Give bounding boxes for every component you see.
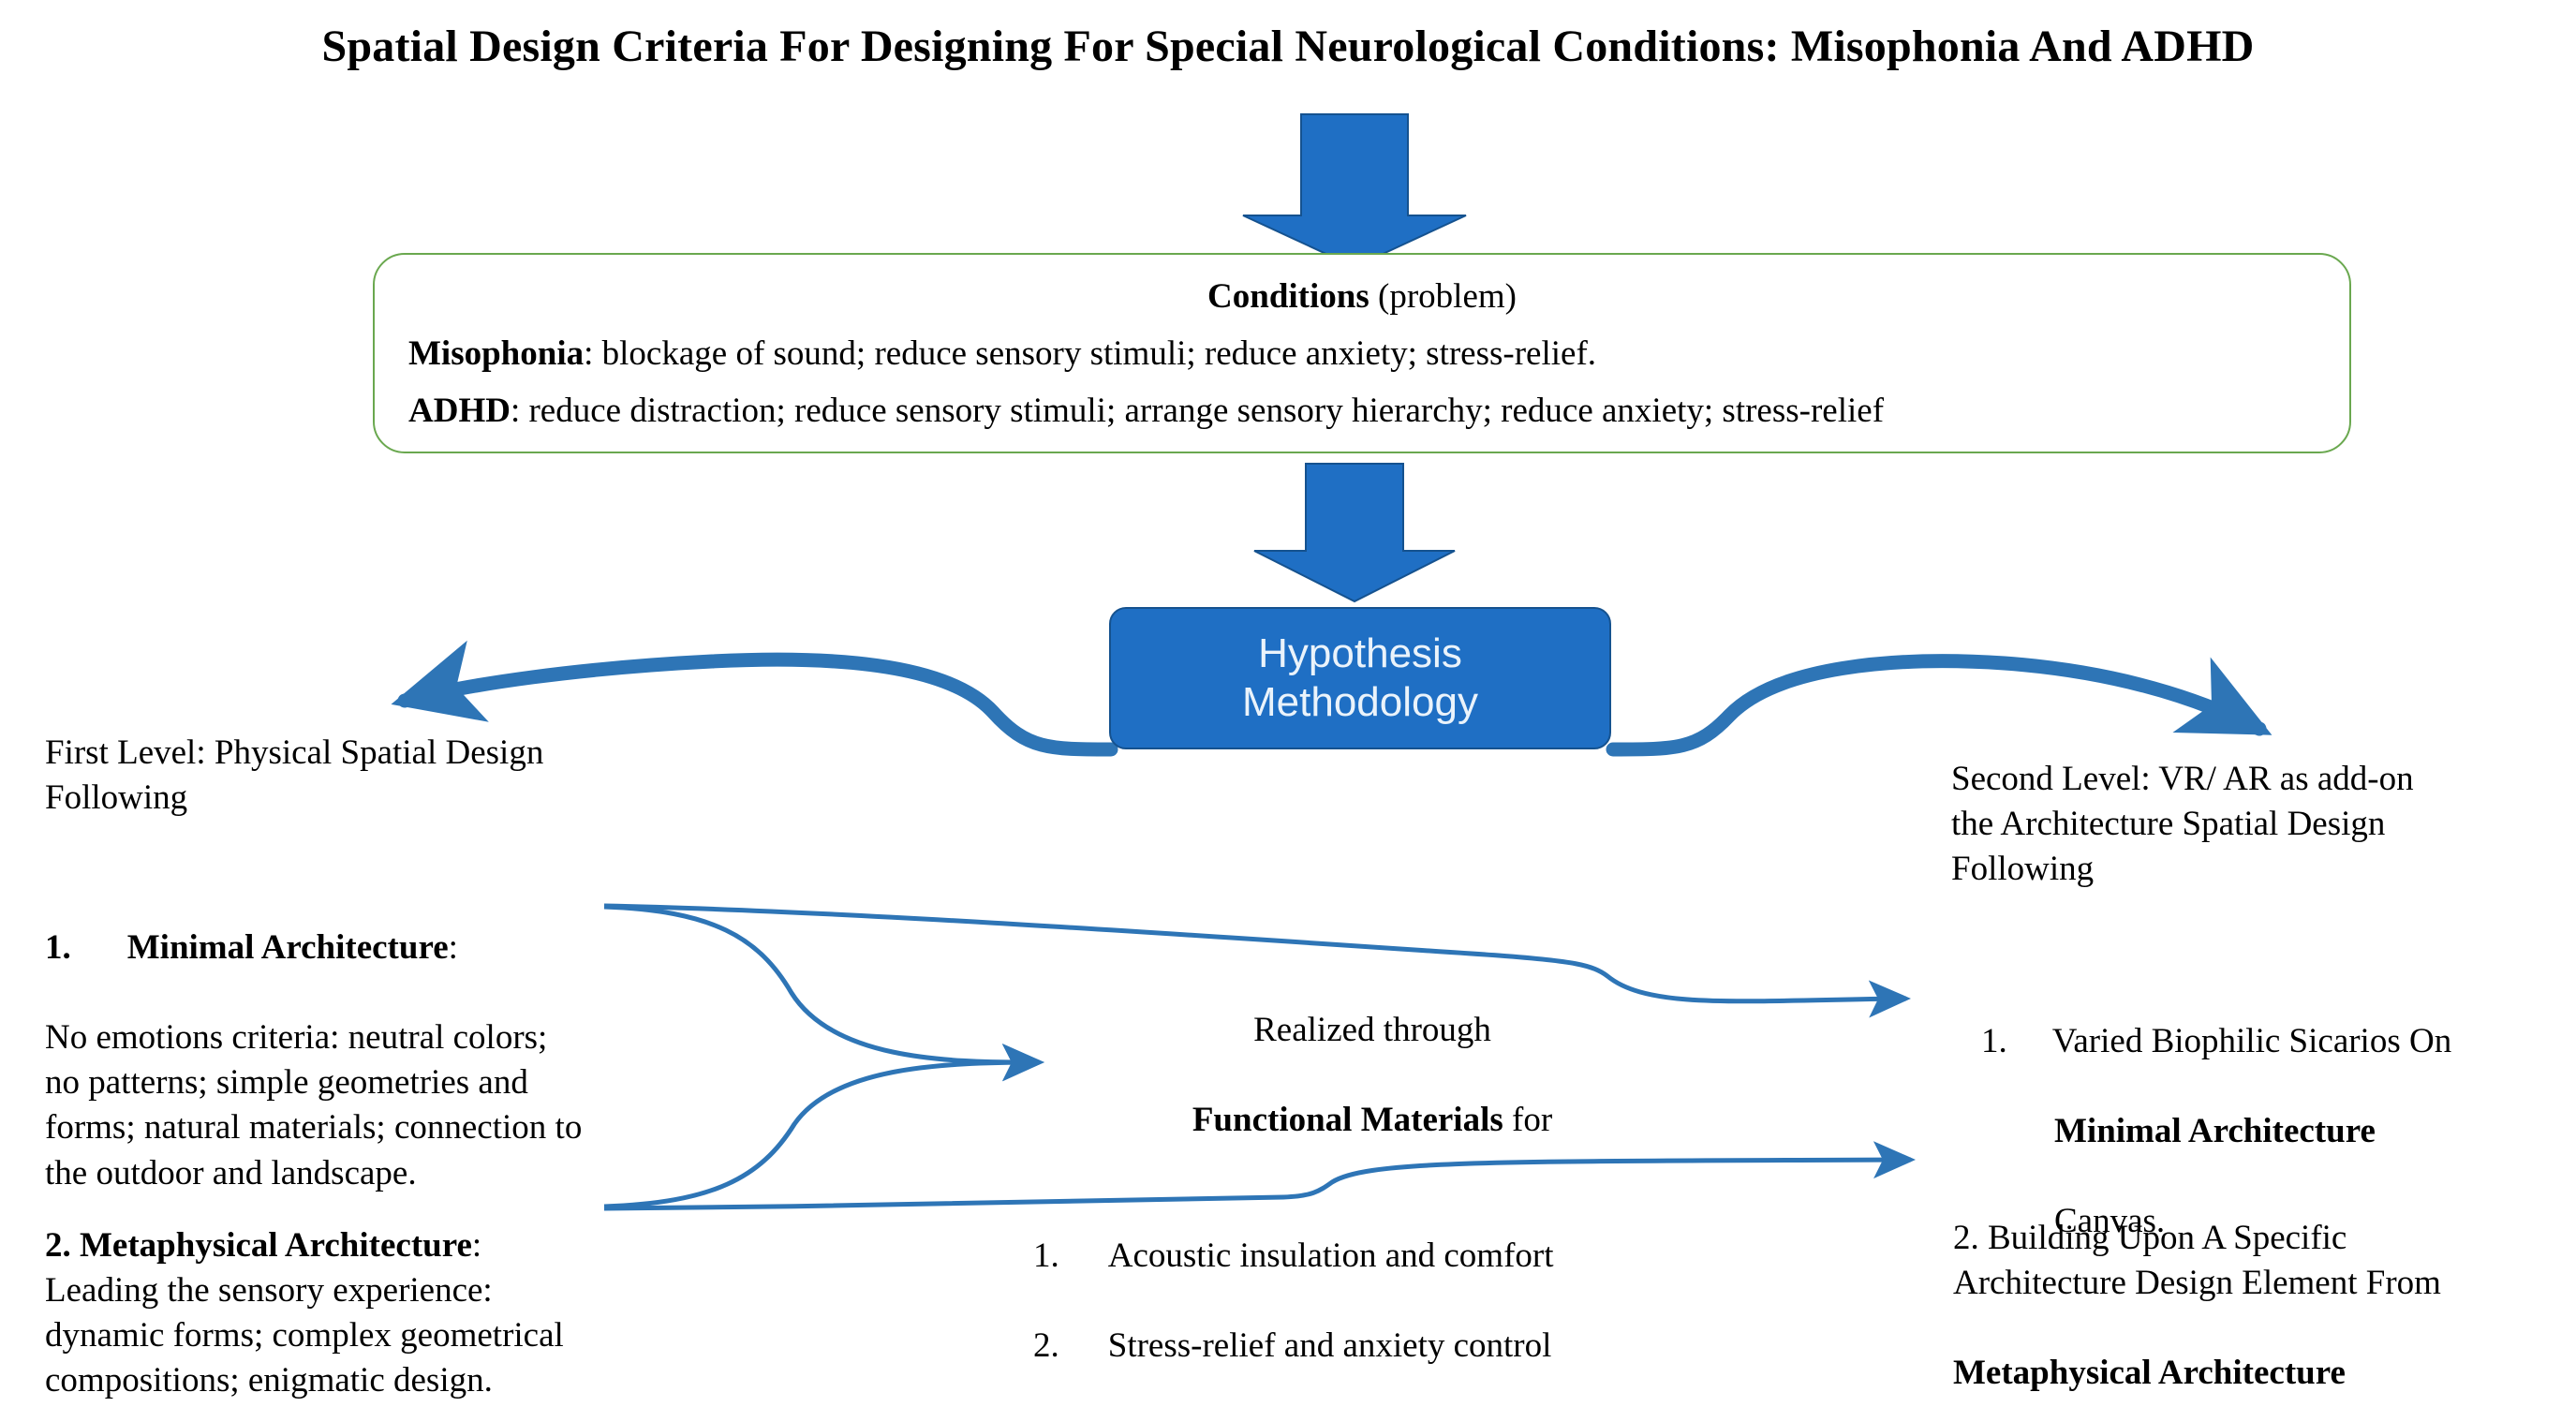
functional-materials-rest: for (1503, 1101, 1552, 1139)
list-item-text: Acoustic insulation and comfort (1108, 1237, 1554, 1275)
functional-materials-block: Realized through Functional Materials fo… (1016, 963, 1728, 1407)
list-item: 1.Acoustic insulation and comfort (1033, 1234, 1728, 1279)
metaphysical-architecture-colon: : (472, 1226, 481, 1265)
right-item-2-bold: Metaphysical Architecture (1953, 1354, 2346, 1392)
conditions-adhd-label: ADHD (408, 392, 511, 430)
conditions-misophonia-text: : blockage of sound; reduce sensory stim… (584, 334, 1596, 373)
hypothesis-methodology-box[interactable]: Hypothesis Methodology (1109, 607, 1611, 749)
conditions-heading-bold: Conditions (1207, 277, 1369, 316)
functional-materials-bold: Functional Materials (1192, 1101, 1503, 1139)
connector-metaphysical-to-materials (604, 1062, 1040, 1207)
list-item: 2.Stress-relief and anxiety control (1033, 1324, 1728, 1369)
realized-through-label: Realized through (1016, 1008, 1728, 1053)
list-item-text: Stress-relief and anxiety control (1108, 1326, 1552, 1365)
functional-materials-heading: Functional Materials for (1016, 1098, 1728, 1143)
connector-minimal-to-materials (604, 907, 1040, 1062)
down-arrow-icon-top (1243, 114, 1466, 267)
minimal-architecture-colon: : (449, 928, 458, 967)
right-item-1-bold: Minimal Architecture (2054, 1112, 2376, 1150)
functional-materials-list: 1.Acoustic insulation and comfort 2.Stre… (1033, 1188, 1728, 1407)
right-item-2-line1: Building Upon A Specific (1979, 1219, 2347, 1257)
metaphysical-architecture-title: Metaphysical Architecture (80, 1226, 472, 1265)
minimal-architecture-title: Minimal Architecture (127, 928, 449, 967)
minimal-architecture-heading: 1.Minimal Architecture: (45, 926, 644, 970)
hypothesis-methodology-label: Hypothesis Methodology (1242, 629, 1478, 727)
right-item-2-heading: 2. Building Upon A Specific (1953, 1219, 2347, 1257)
second-level-label: Second Level: VR/ AR as add-on the Archi… (1951, 757, 2569, 892)
conditions-heading: Conditions (problem) (375, 276, 2349, 318)
conditions-box: Conditions (problem) Misophonia: blockag… (373, 253, 2351, 453)
conditions-misophonia-label: Misophonia (408, 334, 584, 373)
right-item-2-block: 2. Building Upon A Specific Architecture… (1953, 1171, 2576, 1407)
metaphysical-architecture-heading: 2. Metaphysical Architecture: (45, 1226, 481, 1265)
down-arrow-icon-middle (1254, 464, 1455, 601)
conditions-misophonia-line: Misophonia: blockage of sound; reduce se… (408, 333, 2349, 375)
minimal-architecture-body: No emotions criteria: neutral colors; no… (45, 1018, 582, 1192)
list-item-number: 2. (1033, 1326, 1059, 1365)
right-item-1-heading: 1.Varied Biophilic Sicarios On (1981, 1019, 2576, 1064)
metaphysical-architecture-block: 2. Metaphysical Architecture: Leading th… (45, 1178, 663, 1403)
minimal-architecture-block: 1.Minimal Architecture: No emotions crit… (45, 881, 644, 1196)
first-level-label: First Level: Physical Spatial Design Fol… (45, 731, 719, 821)
metaphysical-architecture-body: Leading the sensory experience: dynamic … (45, 1271, 564, 1400)
conditions-heading-rest: (problem) (1369, 277, 1517, 316)
metaphysical-architecture-number: 2. (45, 1226, 71, 1265)
conditions-adhd-text: : reduce distraction; reduce sensory sti… (511, 392, 1884, 430)
conditions-adhd-line: ADHD: reduce distraction; reduce sensory… (408, 391, 2349, 432)
diagram-canvas: Spatial Design Criteria For Designing Fo… (0, 0, 2576, 1407)
curved-arrow-right-icon (1613, 661, 2259, 749)
right-item-1-line1: Varied Biophilic Sicarios On (2052, 1022, 2451, 1060)
page-title: Spatial Design Criteria For Designing Fo… (0, 21, 2576, 72)
list-item-number: 1. (1033, 1237, 1059, 1275)
right-item-1-number: 1. (1981, 1022, 2007, 1060)
minimal-architecture-number: 1. (45, 928, 71, 967)
right-item-2-line2: Architecture Design Element From (1953, 1261, 2576, 1306)
right-item-2-number: 2. (1953, 1219, 1979, 1257)
